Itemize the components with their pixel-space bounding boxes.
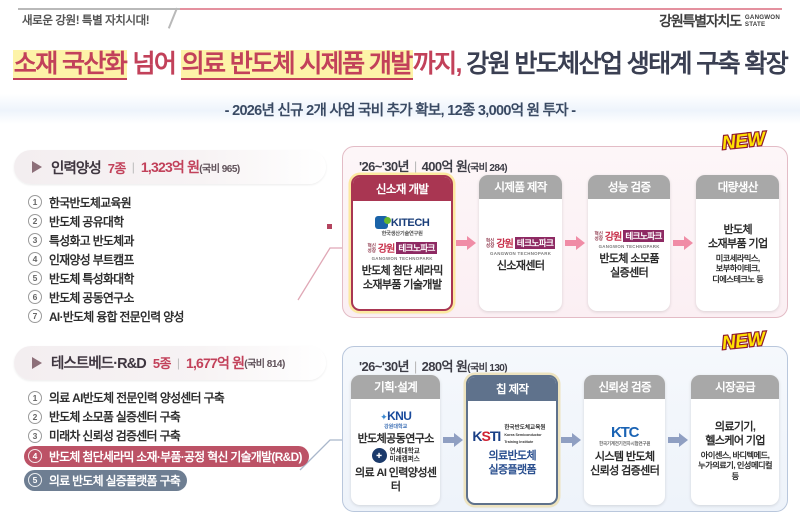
step-caption: 시제품 제작 bbox=[479, 175, 562, 199]
item-number: 5 bbox=[28, 271, 42, 285]
item-number: 1 bbox=[28, 195, 42, 209]
kitech-wordmark: KITECH bbox=[391, 217, 430, 229]
gtp-slogan: 혁신성장 bbox=[594, 231, 602, 241]
logo-english-text: GANGWON STATE bbox=[745, 14, 780, 28]
step-caption: 칩 제작 bbox=[468, 377, 556, 401]
category-count: 5종 bbox=[153, 353, 171, 372]
title-segment-4: 까지, bbox=[413, 50, 461, 78]
step-label-line2: 헬스케어 기업 bbox=[705, 435, 765, 447]
panel-separator: | bbox=[414, 159, 417, 174]
step-caption: 신소재 개발 bbox=[353, 177, 451, 201]
step-label: 반도체공동연구소 bbox=[358, 432, 434, 446]
step-label-line2: 실증센터 bbox=[610, 267, 648, 279]
triangle-icon bbox=[32, 357, 42, 369]
step-body: KTC 한국기계전기전자시험연구원 시스템 반도체신뢰성 검증센터 bbox=[586, 399, 663, 505]
step-body: 혁신성장 강원 테크노파크 GANGWON TECHNOPARK 신소재센터 bbox=[482, 199, 559, 311]
step-label: 의료기기,헬스케어 기업 bbox=[705, 420, 765, 448]
gangwon-technopark-logo: 혁신성장 강원 테크노파크 GANGWON TECHNOPARK bbox=[486, 235, 555, 256]
step-caption: 성능 검증 bbox=[588, 175, 671, 199]
knu-logo: ✦KNU 강원대학교 bbox=[380, 409, 411, 430]
step-label-line2: 신뢰성 검증센터 bbox=[590, 465, 659, 477]
step-label: 시스템 반도체신뢰성 검증센터 bbox=[590, 450, 659, 478]
gtp-technopark: 테크노파크 bbox=[396, 242, 437, 254]
step-body: KITECH 한국생산기술연구원 혁신성장 강원 테크노파크 GANGWON T… bbox=[358, 201, 447, 309]
infographic-page: 새로운 강원! 특별 자치시대! 강원특별자치도 GANGWON STATE 소… bbox=[0, 0, 800, 525]
gtp-logo-row: 혁신성장 강원 테크노파크 bbox=[594, 228, 663, 243]
item-label: 의료 반도체 실증플랫폼 구축 bbox=[49, 472, 180, 489]
step-caption: 신뢰성 검증 bbox=[584, 375, 665, 399]
list-item[interactable]: 4인재양성 부트캠프 bbox=[28, 250, 326, 269]
gangwon-technopark-logo: 혁신성장 강원 테크노파크 GANGWON TECHNOPARK bbox=[367, 240, 436, 261]
category-count: 7종 bbox=[108, 158, 126, 177]
page-title: 소재 국산화 넘어 의료 반도체 시제품 개발까지, 강원 반도체산업 생태계 … bbox=[0, 48, 800, 80]
panel-header: '26~'30년|280억 원(국비 130) bbox=[359, 356, 507, 375]
item-number: 7 bbox=[28, 309, 42, 323]
step-label-line1: 시스템 반도체 bbox=[595, 451, 655, 463]
tagline: 새로운 강원! 특별 자치시대! bbox=[22, 12, 149, 28]
kitech-logo: KITECH 한국생산기술연구원 bbox=[375, 216, 430, 237]
new-badge-bottom: NEW bbox=[721, 329, 766, 355]
triangle-icon bbox=[32, 161, 42, 173]
arrow-right-icon bbox=[673, 236, 693, 250]
category-header-테스트베드-rnd[interactable]: 테스트베드·R&D 5종 | 1,677억 원 (국비 814) bbox=[14, 346, 326, 380]
panel-header: '26~'30년|400억 원(국비 284) bbox=[359, 156, 507, 175]
arrow-right-icon bbox=[443, 433, 463, 447]
logo-en-line1: GANGWON bbox=[745, 14, 780, 21]
list-item[interactable]: 1한국반도체교육원 bbox=[28, 193, 326, 212]
list-item[interactable]: 2반도체 소모품 실증센터 구축 bbox=[28, 408, 326, 427]
yonsei-name: 연세대학교미래캠퍼스 bbox=[390, 448, 420, 464]
step-box-reliability-verification[interactable]: 신뢰성 검증 KTC 한국기계전기전자시험연구원 시스템 반도체신뢰성 검증센터 bbox=[584, 375, 665, 505]
list-item[interactable]: 3미래차 신뢰성 검증센터 구축 bbox=[28, 427, 326, 446]
panel-period: '26~'30년 bbox=[359, 159, 409, 174]
category-separator: | bbox=[177, 356, 180, 370]
item-label: 반도체 첨단세라믹 소재·부품·공정 혁신 기술개발(R&D) bbox=[49, 448, 302, 465]
step-label-line2: 실증플랫폼 bbox=[488, 464, 536, 476]
gtp-gangwon: 강원 bbox=[378, 240, 394, 255]
title-segment-5: 강원 반도체산업 생태계 구축 확장 bbox=[461, 50, 787, 78]
item-label: 반도체 특성화대학 bbox=[49, 270, 134, 287]
arrow-right-icon bbox=[561, 433, 581, 447]
step-box-mass-production[interactable]: 대량생산 반도체소재부품 기업 미코세라믹스,보부하이테크,디에스테크노 등 bbox=[696, 175, 779, 311]
panel-national-budget: (국비 130) bbox=[467, 363, 507, 374]
knu-wordmark: ✦KNU bbox=[380, 409, 411, 423]
step-box-planning-design[interactable]: 기획·설계 ✦KNU 강원대학교 반도체공동연구소 ✚ 연세대학교미래캠퍼스 의… bbox=[351, 375, 440, 505]
company-line1: 아이센스, 바디텍메드, bbox=[701, 451, 770, 460]
ksti-s-letter: S bbox=[482, 428, 490, 444]
gtp-english: GANGWON TECHNOPARK bbox=[372, 256, 433, 261]
panel-national-budget: (국비 284) bbox=[467, 163, 507, 174]
list-item[interactable]: 1의료 AI반도체 전문인력 양성센터 구축 bbox=[28, 389, 326, 408]
category-item-list-2: 1의료 AI반도체 전문인력 양성센터 구축 2반도체 소모품 실증센터 구축 … bbox=[14, 389, 326, 491]
yonsei-seal-icon: ✚ bbox=[372, 448, 387, 463]
subtitle-text: - 2026년 신규 2개 사업 국비 추가 확보, 12종 3,000억 원 … bbox=[225, 99, 576, 120]
step-label-line1: 의료기기, bbox=[715, 421, 756, 433]
item-number: 6 bbox=[28, 290, 42, 304]
ksti-logo: KSTI 한국반도체교육원Korea Semiconductor Trainin… bbox=[472, 425, 552, 446]
category-national-budget: (국비 814) bbox=[244, 355, 285, 370]
step-label-line1: 반도체 첨단 세라믹 bbox=[362, 265, 443, 277]
gtp-technopark: 테크노파크 bbox=[623, 230, 664, 242]
category-name: 테스트베드·R&D bbox=[51, 352, 146, 373]
list-item[interactable]: 5반도체 특성화대학 bbox=[28, 269, 326, 288]
step-label-2: 의료 AI 인력양성센터 bbox=[355, 466, 436, 494]
step-companies: 아이센스, 바디텍메드,누가의료기, 인성메디컬 등 bbox=[695, 451, 775, 483]
header-rule-left bbox=[18, 8, 180, 10]
ksti-wordmark: KSTI bbox=[472, 428, 500, 444]
gangwon-technopark-logo: 혁신성장 강원 테크노파크 GANGWON TECHNOPARK bbox=[594, 228, 663, 249]
yonsei-logo: ✚ 연세대학교미래캠퍼스 bbox=[372, 448, 420, 464]
header-slash-divider bbox=[168, 8, 178, 29]
gtp-slogan-2: 성장 bbox=[486, 243, 494, 248]
item-label: 인재양성 부트캠프 bbox=[49, 251, 134, 268]
title-text: 소재 국산화 넘어 의료 반도체 시제품 개발까지, 강원 반도체산업 생태계 … bbox=[0, 48, 800, 80]
step-body: KSTI 한국반도체교육원Korea Semiconductor Trainin… bbox=[468, 401, 556, 503]
category-name: 인력양성 bbox=[51, 157, 101, 178]
step-caption: 기획·설계 bbox=[351, 375, 440, 399]
step-label-line2: 소재부품 기업 bbox=[708, 238, 768, 250]
item-number: 3 bbox=[28, 233, 42, 247]
ksti-line2: Korea Semiconductor Training Institute bbox=[504, 433, 541, 444]
kitech-korean-name: 한국생산기술연구원 bbox=[382, 230, 423, 237]
panel-amount: 280억 원 bbox=[422, 359, 468, 374]
left-column: 인력양성 7종 | 1,323억 원 (국비 965) 1한국반도체교육원 2반… bbox=[14, 150, 326, 494]
arrow-right-icon bbox=[565, 236, 585, 250]
gtp-logo-row: 혁신성장 강원 테크노파크 bbox=[367, 240, 436, 255]
gtp-english: GANGWON TECHNOPARK bbox=[599, 244, 660, 249]
step-body: 의료기기,헬스케어 기업 아이센스, 바디텍메드,누가의료기, 인성메디컬 등 bbox=[691, 399, 779, 505]
step-body: 반도체소재부품 기업 미코세라믹스,보부하이테크,디에스테크노 등 bbox=[704, 199, 772, 311]
panel-medical-semiconductor: '26~'30년|280억 원(국비 130) 기획·설계 ✦KNU 강원대학교… bbox=[342, 346, 788, 512]
step-box-market-supply[interactable]: 시장공급 의료기기,헬스케어 기업 아이센스, 바디텍메드,누가의료기, 인성메… bbox=[691, 375, 779, 505]
arrow-right-icon bbox=[456, 236, 476, 250]
panel-period: '26~'30년 bbox=[359, 359, 409, 374]
item-number: 4 bbox=[28, 449, 42, 463]
item-number: 5 bbox=[28, 473, 42, 487]
knu-korean-name: 강원대학교 bbox=[384, 423, 407, 430]
list-item[interactable]: 3특성화고 반도체과 bbox=[28, 231, 326, 250]
category-amount: 1,323억 원 bbox=[141, 157, 199, 177]
item-label: 반도체 소모품 실증센터 구축 bbox=[49, 408, 180, 425]
category-amount: 1,677억 원 bbox=[186, 353, 244, 373]
item-label: 미래차 신뢰성 검증센터 구축 bbox=[49, 427, 180, 444]
step-caption: 대량생산 bbox=[696, 175, 779, 199]
panel-separator: | bbox=[414, 359, 417, 374]
step-box-performance-verification[interactable]: 성능 검증 혁신성장 강원 테크노파크 GANGWON TECHNOPARK 반… bbox=[588, 175, 671, 311]
gtp-technopark: 테크노파크 bbox=[515, 237, 556, 249]
company-line2: 누가의료기, 인성메디컬 등 bbox=[698, 461, 772, 481]
step-label: 반도체소재부품 기업 bbox=[708, 223, 768, 251]
logo-korean-text: 강원특별자치도 bbox=[659, 11, 741, 31]
ktc-korean-name: 한국기계전기전자시험연구원 bbox=[599, 441, 650, 447]
list-item-highlighted-blue[interactable]: 5의료 반도체 실증플랫폼 구축 bbox=[24, 470, 187, 491]
knu-word: KNU bbox=[387, 409, 411, 423]
item-number: 2 bbox=[28, 214, 42, 228]
list-item[interactable]: 2반도체 공유대학 bbox=[28, 212, 326, 231]
step-box-chip-fabrication[interactable]: 칩 제작 KSTI 한국반도체교육원Korea Semiconductor Tr… bbox=[466, 375, 558, 505]
panel-new-materials: '26~'30년|400억 원(국비 284) 신소재 개발 KITECH 한국… bbox=[342, 146, 788, 318]
item-number: 3 bbox=[28, 429, 42, 443]
ktc-wordmark: KTC bbox=[611, 424, 638, 441]
company-line2: 보부하이테크, bbox=[716, 264, 760, 273]
step-label: 반도체 소모품실증센터 bbox=[599, 252, 659, 280]
step-companies: 미코세라믹스,보부하이테크,디에스테크노 등 bbox=[712, 254, 763, 286]
subtitle-bar: - 2026년 신규 2개 사업 국비 추가 확보, 12종 3,000억 원 … bbox=[0, 94, 800, 124]
logo-en-line2: STATE bbox=[745, 21, 765, 28]
gtp-english: GANGWON TECHNOPARK bbox=[490, 251, 551, 256]
category-separator: | bbox=[132, 160, 135, 174]
category-header-인력양성[interactable]: 인력양성 7종 | 1,323억 원 (국비 965) bbox=[14, 150, 326, 184]
title-segment-2: 넘어 bbox=[127, 50, 181, 78]
item-label: 반도체 공동연구소 bbox=[49, 289, 134, 306]
step-label: 의료반도체실증플랫폼 bbox=[488, 449, 536, 477]
gangwon-state-logo: 강원특별자치도 GANGWON STATE bbox=[659, 11, 780, 31]
step-label: 반도체 첨단 세라믹소재부품 기술개발 bbox=[362, 264, 443, 292]
company-line3: 디에스테크노 등 bbox=[712, 275, 763, 284]
step-box-prototype-production[interactable]: 시제품 제작 혁신성장 강원 테크노파크 GANGWON TECHNOPARK … bbox=[479, 175, 562, 311]
gtp-slogan-2: 성장 bbox=[594, 236, 602, 241]
arrow-right-icon bbox=[668, 433, 688, 447]
category-national-budget: (국비 965) bbox=[199, 160, 240, 175]
item-number: 1 bbox=[28, 391, 42, 405]
item-label: 의료 AI반도체 전문인력 양성센터 구축 bbox=[49, 389, 224, 406]
step-label-line2: 소재부품 기술개발 bbox=[363, 279, 442, 291]
step-label: 신소재센터 bbox=[497, 259, 545, 273]
gtp-gangwon: 강원 bbox=[605, 228, 621, 243]
item-label: 특성화고 반도체과 bbox=[49, 232, 134, 249]
kitech-mark-icon bbox=[375, 216, 388, 229]
item-label: 반도체 공유대학 bbox=[49, 213, 123, 230]
kitech-logo-row: KITECH bbox=[375, 216, 430, 229]
step-label-line1: 반도체 소모품 bbox=[599, 253, 659, 265]
gtp-slogan: 혁신성장 bbox=[486, 238, 494, 248]
list-item[interactable]: 7AI·반도체 융합 전문인력 양성 bbox=[28, 307, 326, 326]
gtp-slogan-2: 성장 bbox=[367, 248, 375, 253]
step-label-line1: 의료반도체 bbox=[488, 450, 536, 462]
list-item[interactable]: 6반도체 공동연구소 bbox=[28, 288, 326, 307]
yonsei-line2: 미래캠퍼스 bbox=[390, 456, 420, 463]
yonsei-line1: 연세대학교 bbox=[390, 448, 420, 455]
step-box-new-material-dev[interactable]: 신소재 개발 KITECH 한국생산기술연구원 혁신성장 강원 테크노파 bbox=[351, 175, 453, 311]
step-label-line1: 반도체 bbox=[723, 224, 752, 236]
step-caption: 시장공급 bbox=[691, 375, 779, 399]
list-item-highlighted-pink[interactable]: 4반도체 첨단세라믹 소재·부품·공정 혁신 기술개발(R&D) bbox=[24, 446, 309, 467]
new-badge-top: NEW bbox=[721, 129, 766, 155]
ksti-name: 한국반도체교육원Korea Semiconductor Training Ins… bbox=[504, 425, 552, 446]
step-body: 혁신성장 강원 테크노파크 GANGWON TECHNOPARK 반도체 소모품… bbox=[590, 199, 667, 311]
connector-node-pink bbox=[327, 224, 332, 229]
step-body: ✦KNU 강원대학교 반도체공동연구소 ✚ 연세대학교미래캠퍼스 의료 AI 인… bbox=[351, 399, 440, 505]
title-segment-1: 소재 국산화 bbox=[13, 50, 127, 80]
ktc-logo: KTC 한국기계전기전자시험연구원 bbox=[599, 424, 650, 447]
gtp-gangwon: 강원 bbox=[496, 235, 512, 250]
company-line1: 미코세라믹스, bbox=[716, 254, 760, 263]
panel-amount: 400억 원 bbox=[422, 159, 468, 174]
item-label: 한국반도체교육원 bbox=[49, 194, 131, 211]
title-segment-3: 의료 반도체 시제품 개발 bbox=[181, 50, 413, 80]
gtp-logo-row: 혁신성장 강원 테크노파크 bbox=[486, 235, 555, 250]
gtp-slogan: 혁신성장 bbox=[367, 243, 375, 253]
item-number: 4 bbox=[28, 252, 42, 266]
ksti-line1: 한국반도체교육원 bbox=[504, 425, 545, 431]
item-label: AI·반도체 융합 전문인력 양성 bbox=[49, 308, 184, 325]
item-number: 2 bbox=[28, 410, 42, 424]
category-item-list-1: 1한국반도체교육원 2반도체 공유대학 3특성화고 반도체과 4인재양성 부트캠… bbox=[14, 193, 326, 326]
